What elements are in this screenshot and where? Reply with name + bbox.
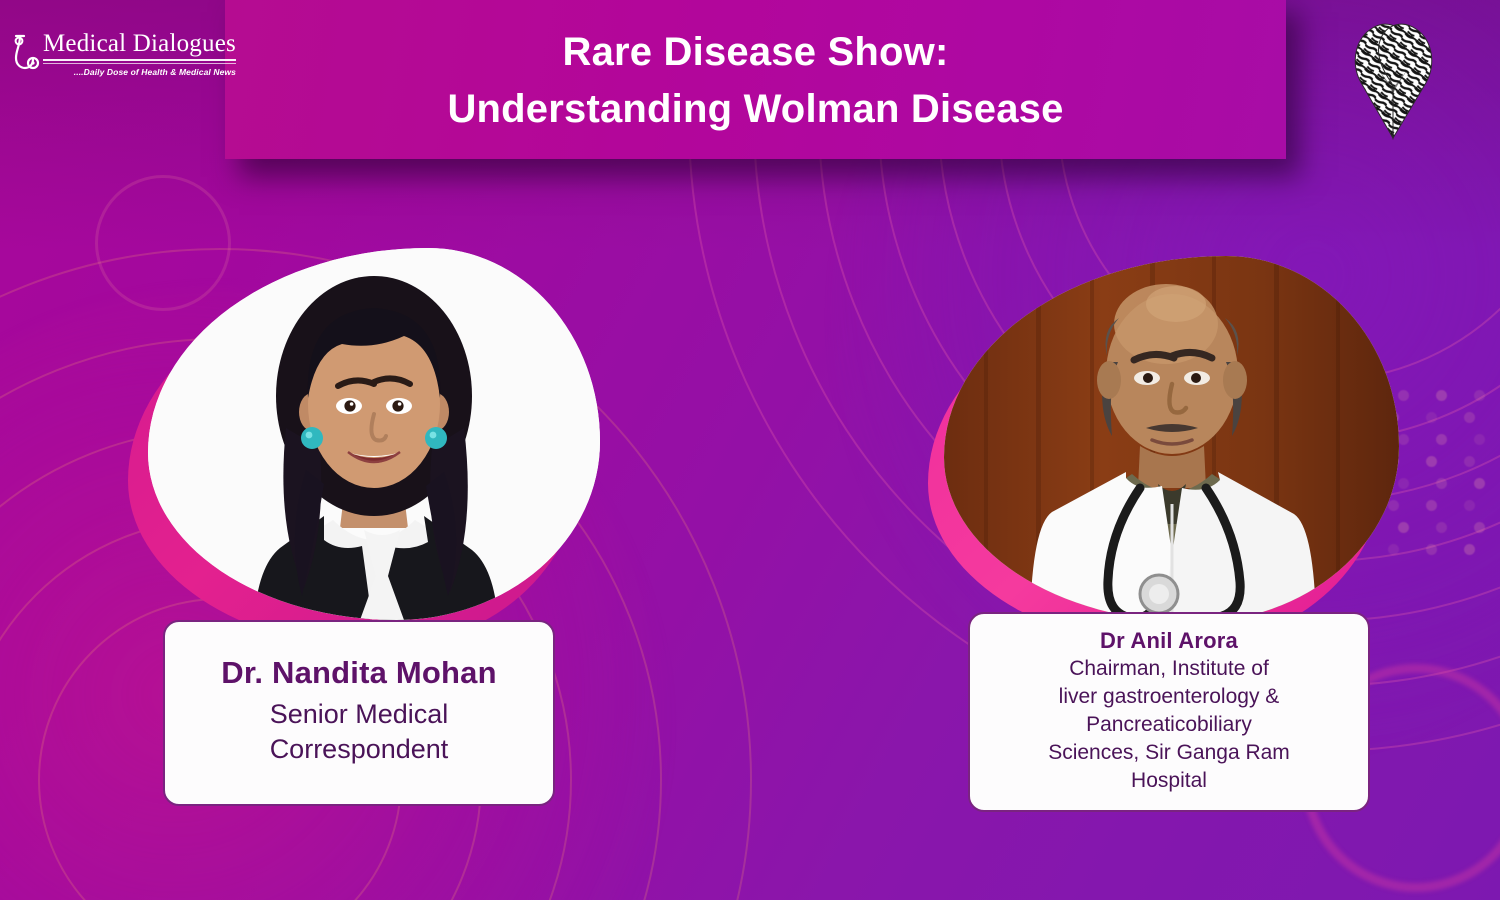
logo-rule-thin — [43, 63, 236, 64]
brand-tagline: ....Daily Dose of Health & Medical News — [43, 67, 236, 77]
title-banner: Rare Disease Show: Understanding Wolman … — [225, 0, 1286, 159]
name-card-anil-arora: Dr Anil Arora Chairman, Institute of liv… — [968, 612, 1370, 812]
speaker-role: Chairman, Institute of liver gastroenter… — [1048, 655, 1290, 795]
brand-name: Medical Dialogues — [43, 30, 236, 58]
speaker-role-line: Sciences, Sir Ganga Ram — [1048, 739, 1290, 767]
brand-logo[interactable]: Medical Dialogues ....Daily Dose of Heal… — [10, 30, 236, 89]
speaker-role: Senior Medical Correspondent — [270, 697, 449, 768]
title-line-2: Understanding Wolman Disease — [447, 81, 1063, 138]
speaker-name: Dr. Nandita Mohan — [221, 654, 497, 693]
speaker-role-line: Correspondent — [270, 732, 449, 768]
title-line-1: Rare Disease Show: — [563, 30, 949, 74]
speaker-name: Dr Anil Arora — [1100, 628, 1238, 654]
speaker-role-line: liver gastroenterology & — [1048, 683, 1290, 711]
zebra-awareness-ribbon-icon — [1338, 16, 1448, 144]
speaker-card-nandita-mohan — [128, 248, 598, 648]
speaker-role-line: Pancreaticobiliary — [1048, 711, 1290, 739]
promo-banner-graphic: Medical Dialogues ....Daily Dose of Heal… — [0, 0, 1500, 900]
page-title: Rare Disease Show: Understanding Wolman … — [447, 16, 1063, 138]
logo-rule — [43, 59, 236, 61]
speaker-photo-nandita-mohan — [148, 248, 600, 620]
name-card-nandita-mohan: Dr. Nandita Mohan Senior Medical Corresp… — [163, 620, 555, 806]
speaker-photo-anil-arora — [944, 256, 1399, 622]
speaker-role-line: Senior Medical — [270, 697, 449, 733]
stethoscope-icon — [10, 32, 40, 89]
speaker-role-line: Hospital — [1048, 767, 1290, 795]
speaker-card-anil-arora — [928, 256, 1398, 648]
speaker-role-line: Chairman, Institute of — [1048, 655, 1290, 683]
